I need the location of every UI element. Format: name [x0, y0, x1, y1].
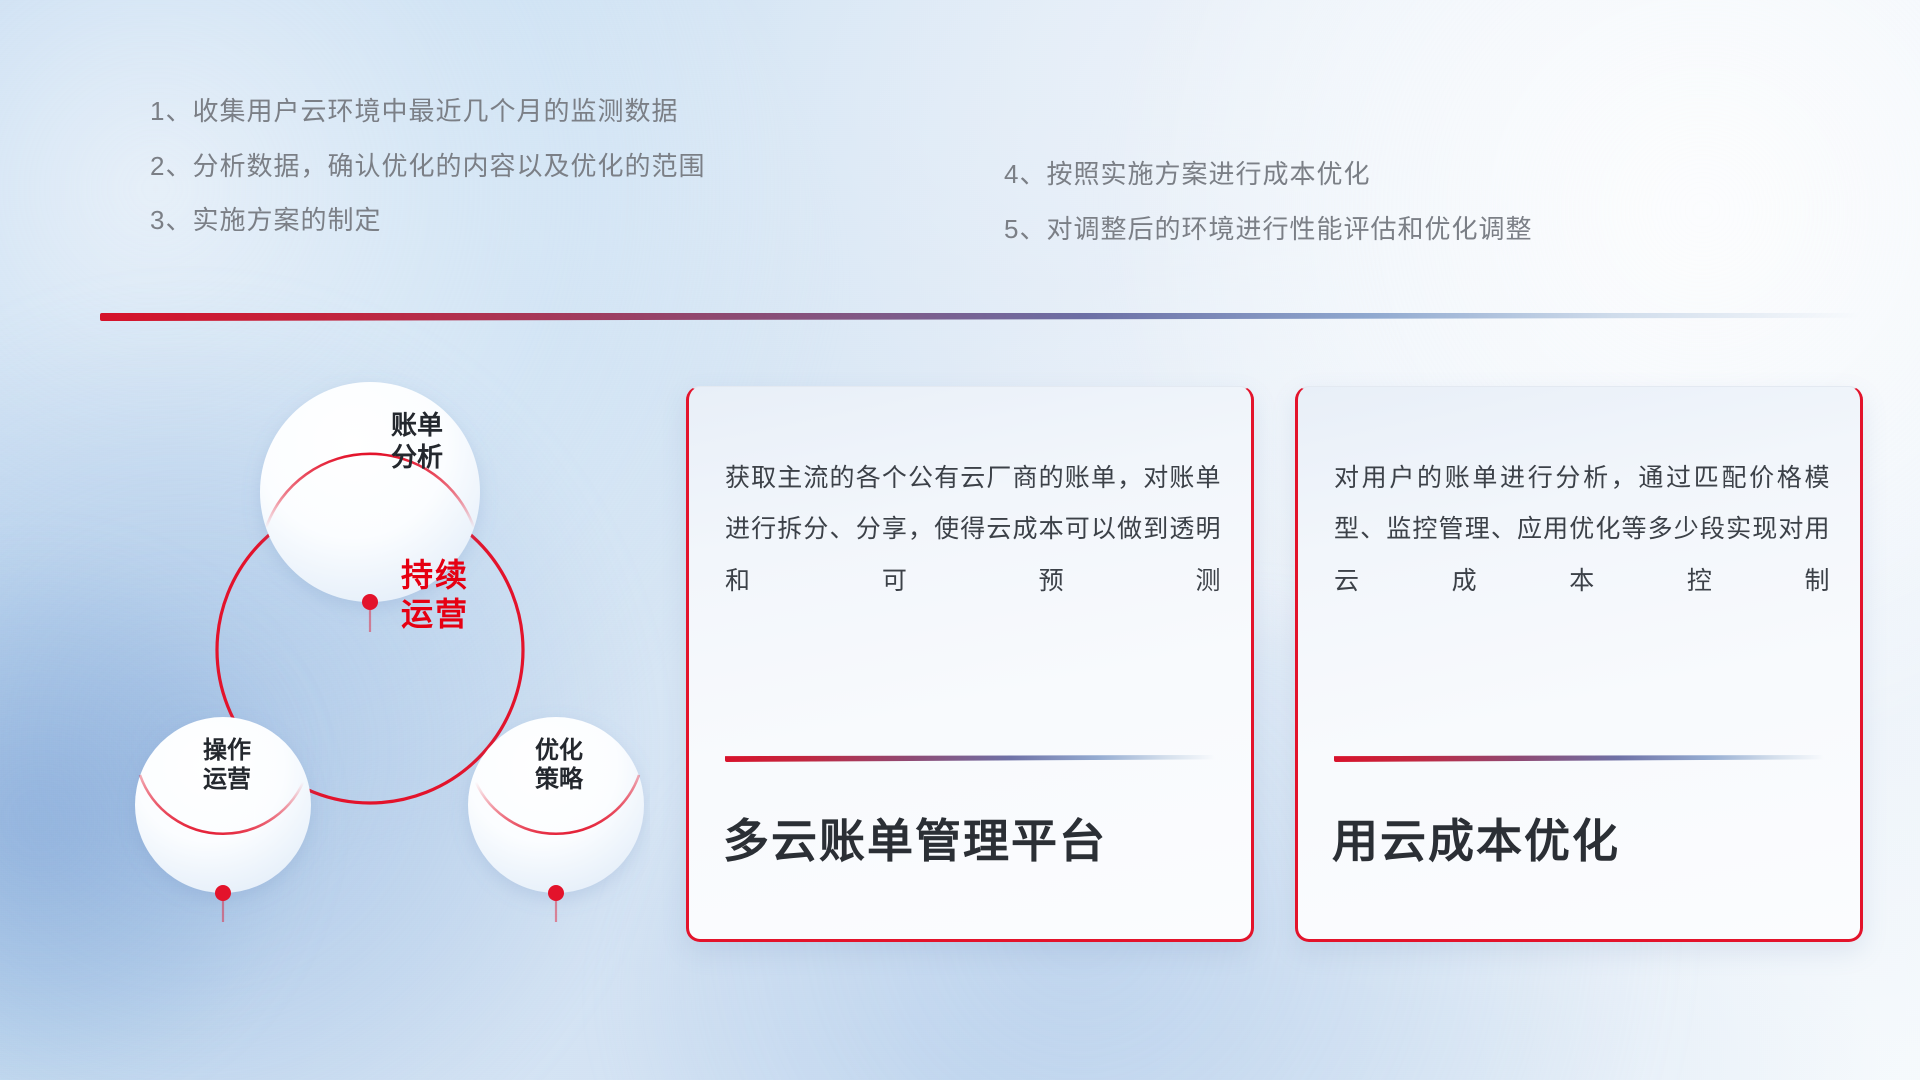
node-label-operation: 操作 运营 — [152, 736, 302, 795]
bullet-item: 4、按照实施方案进行成本优化 — [1004, 160, 1532, 189]
bullet-item: 2、分析数据，确认优化的内容以及优化的范围 — [150, 152, 705, 181]
bullet-item: 1、收集用户云环境中最近几个月的监测数据 — [150, 97, 705, 126]
info-card-multi-cloud-billing[interactable]: 获取主流的各个公有云厂商的账单，对账单进行拆分、分享，使得云成本可以做到透明和可… — [686, 386, 1254, 942]
card-body-text: 获取主流的各个公有云厂商的账单，对账单进行拆分、分享，使得云成本可以做到透明和可… — [725, 453, 1221, 607]
bullet-list-right: 4、按照实施方案进行成本优化 5、对调整后的环境进行性能评估和优化调整 — [1004, 160, 1532, 269]
card-divider — [1334, 755, 1824, 762]
node-label-bill-analysis: 账单 分析 — [342, 410, 492, 473]
slide-canvas: 1、收集用户云环境中最近几个月的监测数据 2、分析数据，确认优化的内容以及优化的… — [0, 0, 1920, 1080]
card-title: 多云账单管理平台 — [723, 805, 1107, 871]
card-title: 用云成本优化 — [1332, 805, 1620, 871]
card-divider — [725, 755, 1215, 762]
center-label: 持续 运营 — [350, 556, 520, 634]
bullet-item: 3、实施方案的制定 — [150, 206, 705, 235]
card-body-text: 对用户的账单进行分析，通过匹配价格模型、监控管理、应用优化等多少段实现对用云成本… — [1334, 453, 1830, 607]
node-label-strategy: 优化 策略 — [484, 736, 634, 795]
bullet-list-left: 1、收集用户云环境中最近几个月的监测数据 2、分析数据，确认优化的内容以及优化的… — [150, 97, 705, 261]
continuous-operation-diagram: 账单 分析 操作 运营 优化 策略 持续 运营 — [90, 350, 650, 950]
info-card-cloud-cost-optimization[interactable]: 对用户的账单进行分析，通过匹配价格模型、监控管理、应用优化等多少段实现对用云成本… — [1295, 386, 1863, 942]
bullet-item: 5、对调整后的环境进行性能评估和优化调整 — [1004, 215, 1532, 244]
